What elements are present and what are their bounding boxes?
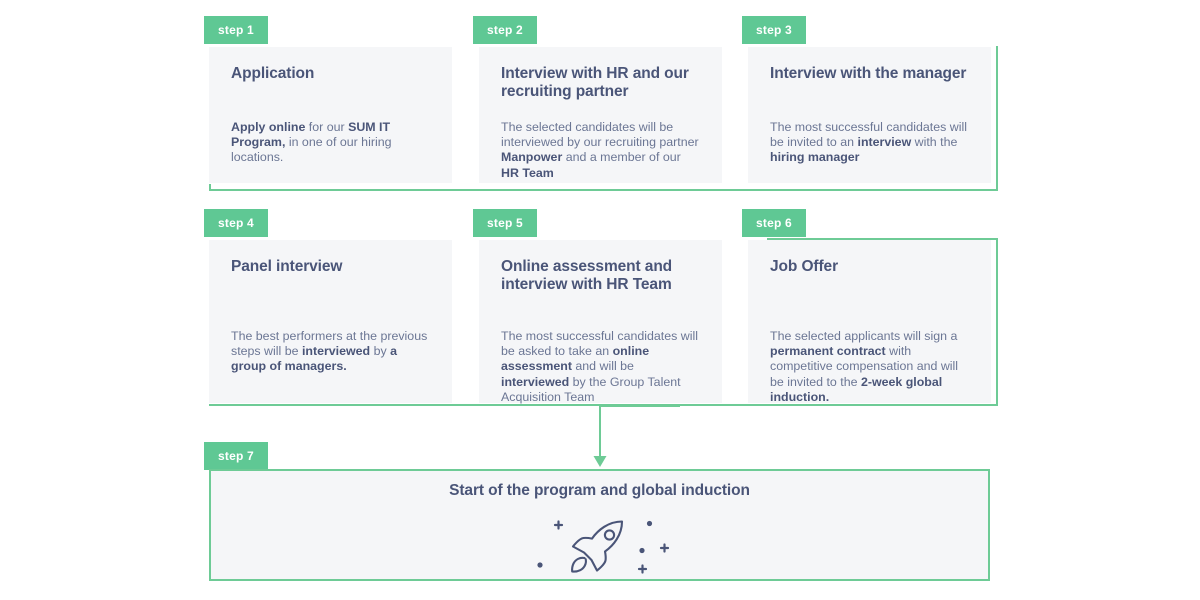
step-card-1-body: Apply online for our SUM IT Program, in … (231, 120, 430, 166)
step-card-4-body: The best performers at the previous step… (231, 329, 430, 375)
down-arrow-connector (560, 398, 680, 470)
step-card-6-title: Job Offer (770, 258, 969, 276)
step-card-5-title: Online assessment and interview with HR … (501, 258, 700, 294)
step-badge-5: step 5 (473, 209, 537, 237)
step-card-5: Online assessment and interview with HR … (479, 240, 722, 403)
step-badge-3: step 3 (742, 16, 806, 44)
rocket-icon (530, 511, 670, 581)
step-card-3: Interview with the manager The most succ… (748, 47, 991, 183)
final-step-title: Start of the program and global inductio… (211, 482, 988, 500)
step-card-6: Job Offer The selected applicants will s… (748, 240, 991, 403)
step-card-6-body: The selected applicants will sign a perm… (770, 329, 969, 405)
step-badge-4: step 4 (204, 209, 268, 237)
step-card-3-title: Interview with the manager (770, 65, 969, 83)
step-badge-7: step 7 (204, 442, 268, 470)
step-card-4: Panel interview The best performers at t… (209, 240, 452, 403)
step-card-2-title: Interview with HR and our recruiting par… (501, 65, 700, 101)
step-badge-6: step 6 (742, 209, 806, 237)
step-card-1-title: Application (231, 65, 430, 83)
process-flow-diagram: step 1 Application Apply online for our … (0, 0, 1200, 600)
step-card-1: Application Apply online for our SUM IT … (209, 47, 452, 183)
final-step-box: Start of the program and global inductio… (209, 469, 990, 581)
step-badge-2: step 2 (473, 16, 537, 44)
step-badge-1: step 1 (204, 16, 268, 44)
step-card-2-body: The selected candidates will be intervie… (501, 120, 700, 181)
step-card-5-body: The most successful candidates will be a… (501, 329, 700, 405)
step-card-2: Interview with HR and our recruiting par… (479, 47, 722, 183)
step-card-3-body: The most successful candidates will be i… (770, 120, 969, 166)
step-card-4-title: Panel interview (231, 258, 430, 276)
